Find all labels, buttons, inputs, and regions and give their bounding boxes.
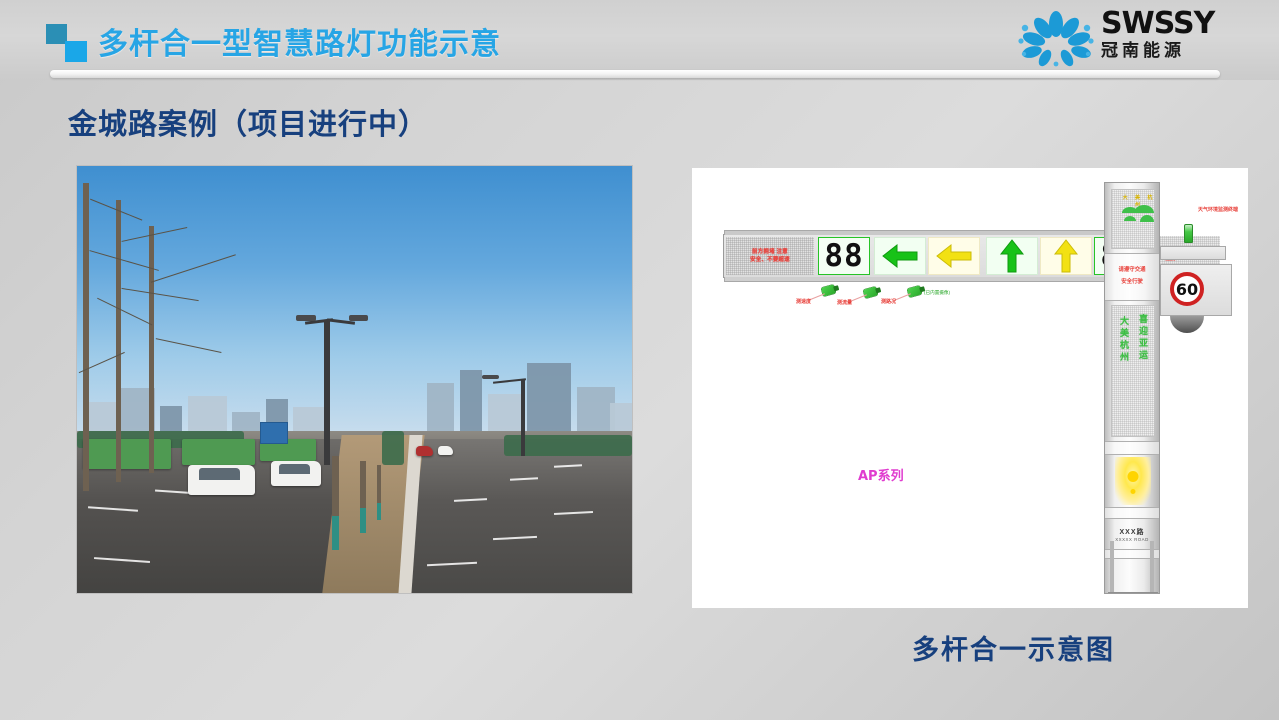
- pole-banner-text-left: 大美杭州: [1118, 316, 1129, 364]
- road-photo: [76, 165, 633, 594]
- logo-brand-sub: 冠南能源: [1101, 40, 1214, 62]
- pole-divider-1: [1105, 441, 1159, 455]
- leader-line: [850, 294, 867, 302]
- pole-diagram: 前方拥堵 注意 安全、不要超速 88 88: [692, 168, 1248, 608]
- pole-notice-line-1: 请遵守交通: [1105, 266, 1159, 274]
- photo-road-sign: [260, 422, 288, 443]
- pole-arm-upper: [1160, 246, 1226, 260]
- environment-sensor-icon: [1184, 224, 1193, 243]
- light-dot-large: [1128, 471, 1139, 482]
- pole-notice-line-2: 安全行驶: [1105, 278, 1159, 286]
- environment-sensor-label: 天气环境监测终端: [1198, 206, 1238, 213]
- photo-skyline: [77, 367, 632, 440]
- pole-top-graphic: [1120, 203, 1160, 227]
- slide-header: 多杆合一型智慧路灯功能示意: [0, 0, 1279, 80]
- pole-light-panel: [1115, 457, 1151, 505]
- logo-flower-icon: [1015, 8, 1097, 70]
- camera-builtin-note: (已内置摄像): [924, 290, 950, 296]
- pole-foot-line: [1108, 592, 1158, 593]
- decoration-square-dark: [46, 24, 67, 44]
- page-title: 多杆合一型智慧路灯功能示意: [98, 19, 501, 63]
- camera-icon-flow: [863, 286, 878, 298]
- section-subtitle: 金城路案例（项目进行中）: [68, 101, 428, 143]
- logo-text-block: SWSSY 冠南能源: [1101, 8, 1214, 62]
- camera-callouts: 测速度 测流量 测路况 (已内置摄像): [692, 168, 1248, 608]
- street-name: XXX路: [1105, 527, 1159, 537]
- pole-top-display: 大 美 杭 州: [1111, 189, 1155, 249]
- pole-divider-2: [1105, 507, 1159, 519]
- pole-top-caption: 大 美 杭 州: [1120, 194, 1158, 201]
- header-decoration: [46, 24, 92, 64]
- logo-brand-name: SWSSY: [1101, 8, 1214, 40]
- diagram-caption: 多杆合一示意图: [912, 628, 1115, 667]
- pole-leg-left: [1110, 541, 1114, 593]
- decoration-square-bright: [65, 41, 87, 62]
- leader-line: [894, 293, 911, 301]
- camera-icon-condition: [907, 285, 922, 297]
- smart-pole: 大 美 杭 州 请遵守交通 安全行驶 大美杭州 喜迎亚运 XXX路 XXXXX …: [1104, 182, 1160, 594]
- camera-label-flow: 测流量: [837, 299, 852, 306]
- light-dot-small: [1131, 489, 1136, 494]
- pole-leg-right: [1150, 541, 1154, 593]
- pole-banner-text-right: 喜迎亚运: [1137, 314, 1148, 362]
- camera-label-condition: 测路况: [881, 298, 896, 305]
- ap-series-label: AP系列: [858, 465, 904, 484]
- company-logo: SWSSY 冠南能源: [1015, 6, 1265, 72]
- pole-banner-display: 大美杭州 喜迎亚运: [1111, 305, 1155, 437]
- pole-notice-panel: 请遵守交通 安全行驶: [1105, 253, 1159, 301]
- camera-label-speed: 测速度: [796, 298, 811, 305]
- speed-limit-sign: 60: [1170, 272, 1204, 306]
